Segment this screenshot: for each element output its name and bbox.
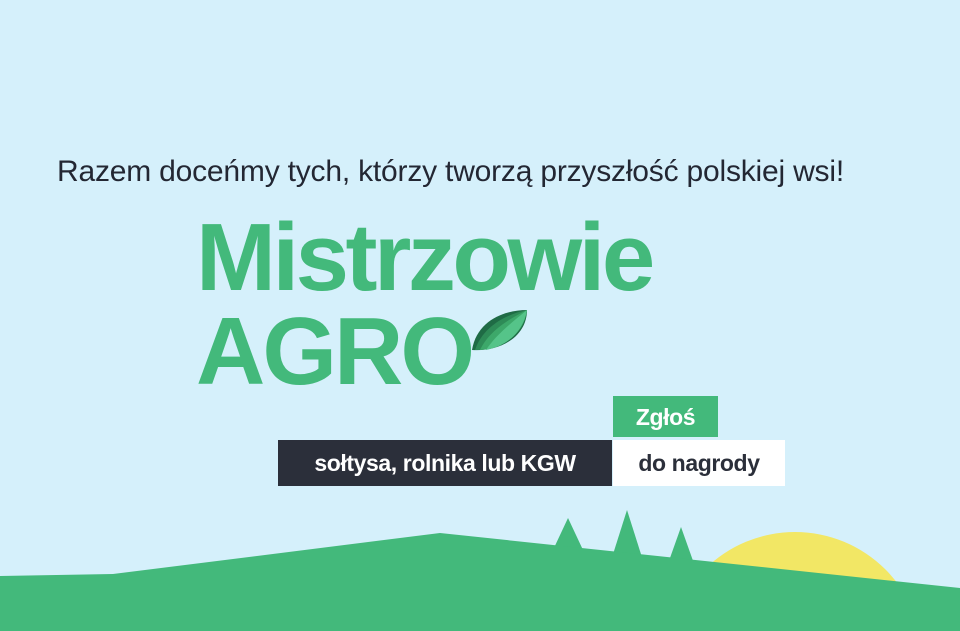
tagline: Razem doceńmy tych, którzy tworzą przysz…	[57, 152, 844, 192]
award-bar: do nagrody	[613, 440, 785, 486]
logo-line-mistrzowie: Mistrzowie	[196, 206, 652, 310]
award-bar-label: do nagrody	[638, 450, 759, 476]
subject-bar: sołtysa, rolnika lub KGW	[278, 440, 612, 486]
zglos-button-label: Zgłoś	[636, 404, 695, 430]
leaf-icon	[471, 308, 529, 352]
zglos-button[interactable]: Zgłoś	[613, 396, 718, 437]
promo-banner: Razem doceńmy tych, którzy tworzą przysz…	[0, 0, 960, 631]
logo-line-agro-wrap: AGRO	[196, 300, 596, 408]
subject-bar-label: sołtysa, rolnika lub KGW	[314, 450, 575, 476]
banner-content: Razem doceńmy tych, którzy tworzą przysz…	[0, 0, 960, 631]
logo-line-agro: AGRO	[196, 300, 472, 404]
